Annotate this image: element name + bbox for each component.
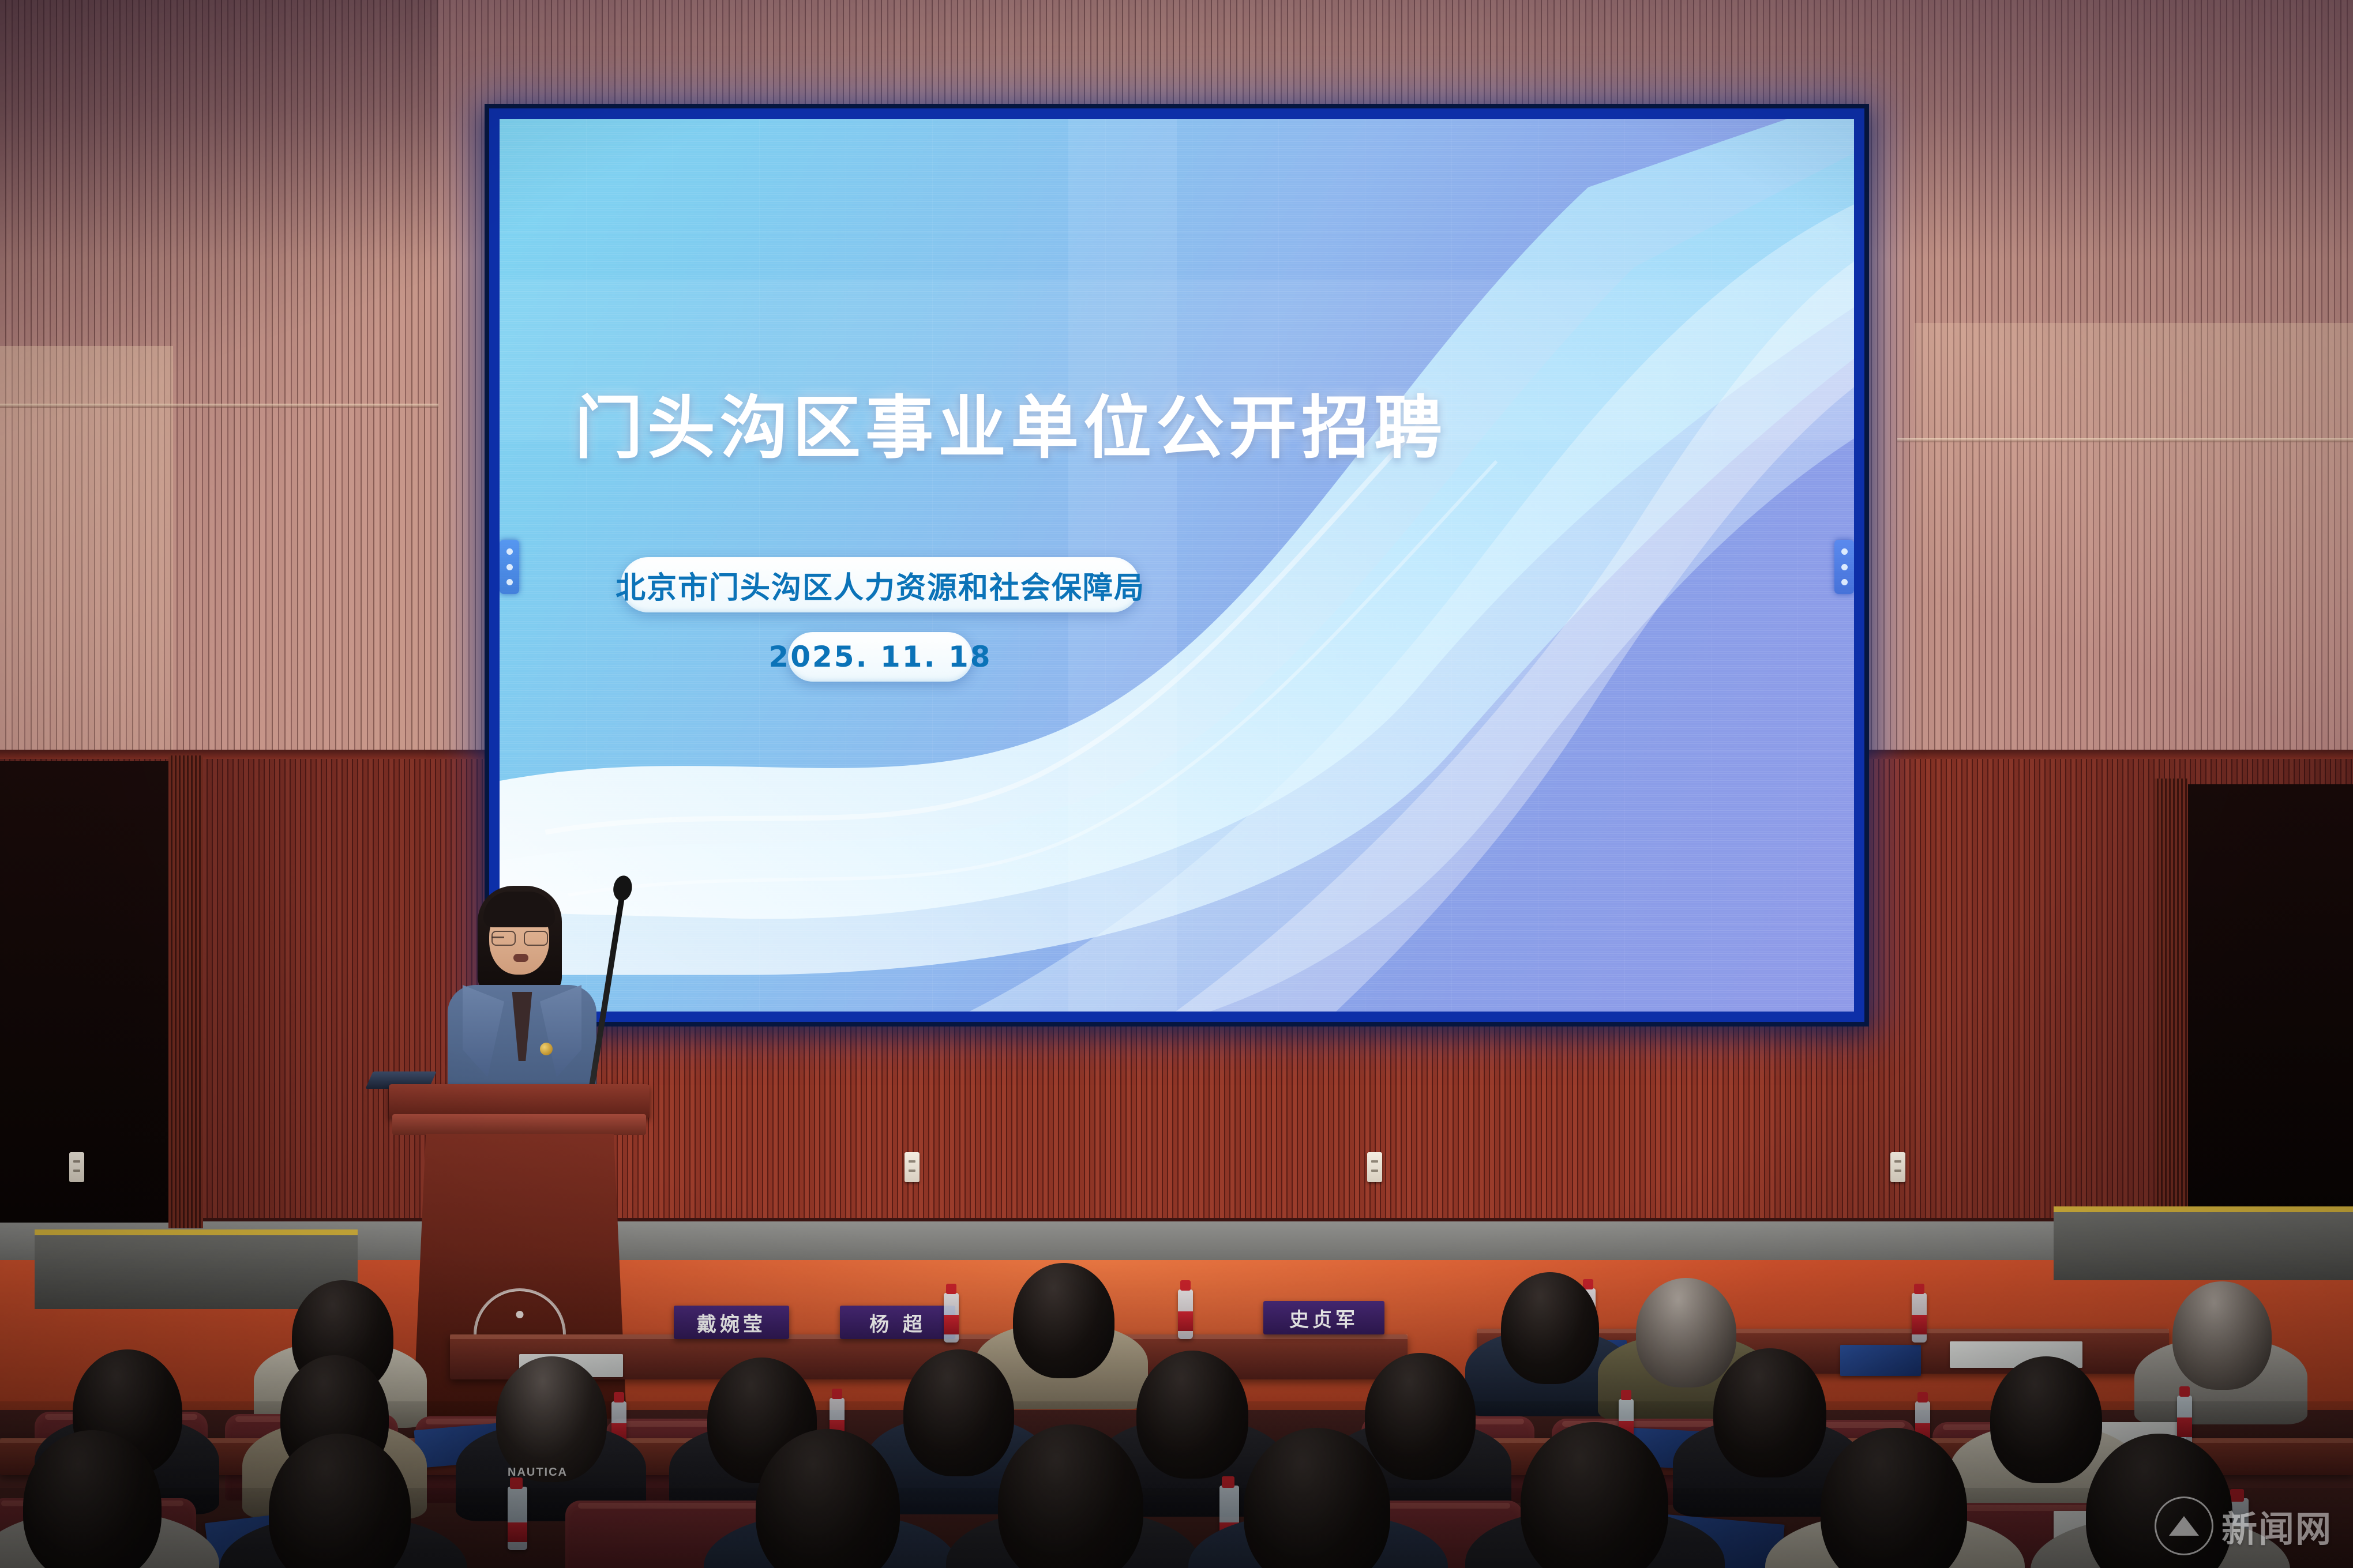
control-dot-3	[1841, 579, 1848, 585]
watermark-text: 新闻网	[2221, 1500, 2332, 1552]
upper-wall-highlight-right	[1915, 323, 2353, 773]
speaker-mouth	[513, 954, 528, 962]
speaker-lapel-pin	[540, 1043, 553, 1055]
wall-outlet-3	[1890, 1152, 1905, 1182]
nameplate-2: 杨 超	[840, 1306, 955, 1339]
upper-wall-highlight-left	[0, 346, 173, 773]
attendee-b5-head	[903, 1349, 1014, 1476]
slide-organization-pill: 北京市门头沟区人力资源和社会保障局	[621, 557, 1140, 612]
aisle-nosing-left	[35, 1229, 358, 1235]
wall-seam-left	[0, 404, 438, 408]
speaker-hair-front	[483, 892, 555, 927]
doorway-right-jamb	[2155, 779, 2188, 1240]
attendee-b7-head	[1365, 1353, 1476, 1480]
control-dot-3	[506, 579, 513, 585]
audience-seating-area: 戴婉莹 杨 超 史贞军	[0, 1315, 2353, 1568]
attendee-a4-head	[2172, 1281, 2272, 1390]
control-dot-2	[1841, 564, 1848, 570]
attendee-b3-head	[496, 1356, 607, 1482]
slide-date-pill: 2025. 11. 18	[788, 632, 973, 682]
aisle-step-right	[2054, 1211, 2353, 1280]
speaker-glasses-bridge	[491, 937, 504, 938]
led-screen-bezel: 门头沟区事业单位公开招聘 北京市门头沟区人力资源和社会保障局 2025. 11.…	[489, 108, 1864, 1022]
attendee-a1-head	[1013, 1263, 1114, 1378]
doorway-left-jamb	[168, 755, 203, 1228]
led-screen: 门头沟区事业单位公开招聘 北京市门头沟区人力资源和社会保障局 2025. 11.…	[485, 104, 1869, 1026]
university-seal-watermark	[2155, 1496, 2213, 1555]
nameplate-1: 戴婉莹	[674, 1306, 789, 1339]
lectern-top-surface	[389, 1084, 650, 1118]
attendee-b8-head	[1713, 1348, 1826, 1477]
water-bottle-a1	[944, 1293, 959, 1343]
aisle-nosing-right	[2054, 1206, 2353, 1212]
water-bottle-a4	[1912, 1293, 1927, 1343]
news-watermark: 新闻网	[2155, 1496, 2332, 1555]
control-dot-1	[506, 548, 513, 555]
doorway-right[interactable]	[2186, 784, 2353, 1234]
attendee-a3-head	[1636, 1278, 1736, 1387]
auditorium-photo-scene: 门头沟区事业单位公开招聘 北京市门头沟区人力资源和社会保障局 2025. 11.…	[0, 0, 2353, 1568]
doorway-left[interactable]	[0, 761, 173, 1223]
wall-outlet-2	[1367, 1152, 1382, 1182]
lectern-front-lip	[392, 1114, 646, 1135]
screen-side-control-left[interactable]	[500, 540, 519, 594]
led-screen-surface: 门头沟区事业单位公开招聘 北京市门头沟区人力资源和社会保障局 2025. 11.…	[500, 119, 1854, 1012]
attendee-b9-head	[1990, 1356, 2102, 1483]
screen-side-control-right[interactable]	[1834, 540, 1854, 594]
table-booklet-1	[1840, 1345, 1921, 1376]
nameplate-3: 史贞军	[1263, 1301, 1384, 1334]
attendee-a2-head	[1501, 1272, 1599, 1384]
water-bottle-a2	[1178, 1289, 1193, 1339]
control-dot-1	[1841, 548, 1848, 555]
wall-outlet-4	[69, 1152, 84, 1182]
wall-outlet-1	[905, 1152, 920, 1182]
water-bottle-c2	[508, 1487, 527, 1550]
attendee-b6-head	[1136, 1351, 1248, 1479]
control-dot-2	[506, 564, 513, 570]
wall-seam-right	[1897, 438, 2353, 442]
slide-title: 门头沟区事业单位公开招聘	[575, 373, 1447, 471]
